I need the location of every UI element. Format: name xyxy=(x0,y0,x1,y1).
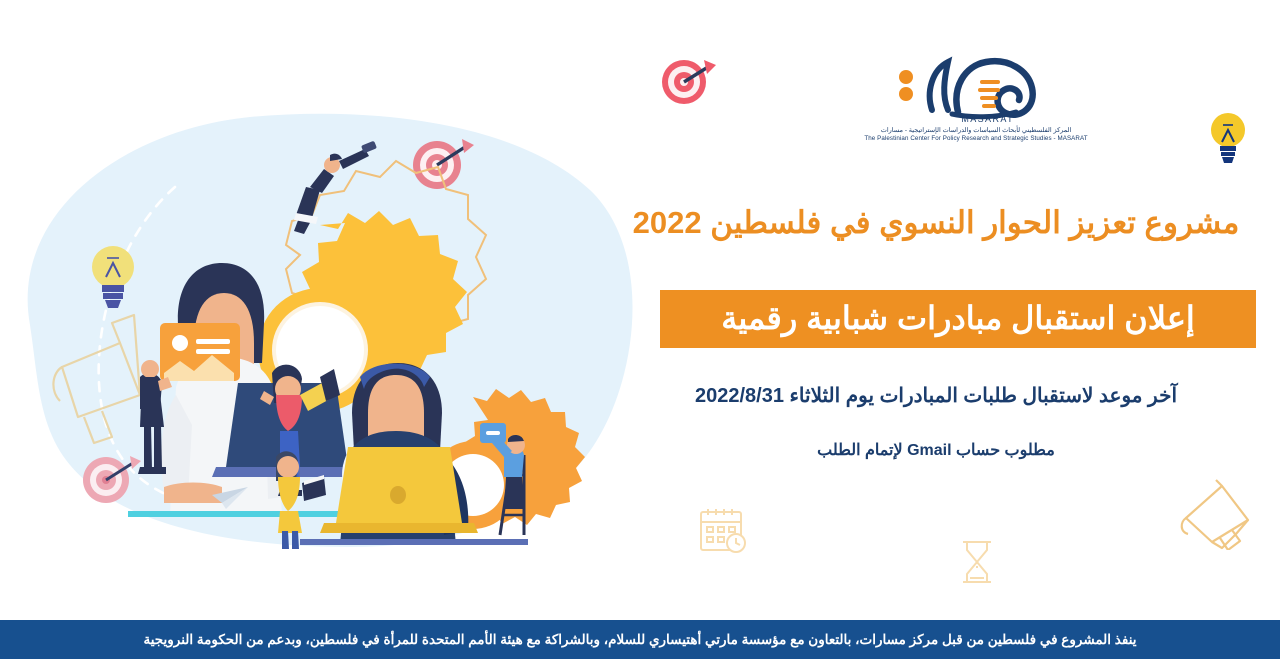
announcement-banner: إعلان استقبال مبادرات شبابية رقمية xyxy=(660,290,1256,348)
teamwork-illustration xyxy=(0,95,640,550)
logo-tagline-arabic: المركز الفلسطيني لأبحاث السياسات والدراس… xyxy=(856,126,1096,135)
poster-root: MASARAT المركز الفلسطيني لأبحاث السياسات… xyxy=(0,0,1280,659)
target-icon xyxy=(658,52,720,108)
calendar-clock-icon xyxy=(698,506,750,556)
masarat-logo: MASARAT المركز الفلسطيني لأبحاث السياسات… xyxy=(856,52,1096,144)
platform-line-lower xyxy=(300,539,528,545)
deadline-text: آخر موعد لاستقبال طلبات المبادرات يوم ال… xyxy=(616,383,1256,408)
megaphone-icon xyxy=(1178,478,1254,550)
hourglass-icon xyxy=(958,538,996,586)
masarat-logo-mark: MASARAT xyxy=(886,52,1066,124)
lightbulb-icon xyxy=(1207,108,1249,164)
footer-text: ينفذ المشروع في فلسطين من قبل مركز مسارا… xyxy=(143,632,1136,648)
footer-bar: ينفذ المشروع في فلسطين من قبل مركز مسارا… xyxy=(0,620,1280,659)
logo-wordmark: MASARAT xyxy=(961,114,1014,124)
main-title: مشروع تعزيز الحوار النسوي في فلسطين 2022 xyxy=(616,205,1256,241)
announcement-banner-text: إعلان استقبال مبادرات شبابية رقمية xyxy=(721,302,1195,337)
requirement-text: مطلوب حساب Gmail لإتمام الطلب xyxy=(616,440,1256,460)
logo-tagline-english: The Palestinian Center For Policy Resear… xyxy=(856,135,1096,144)
